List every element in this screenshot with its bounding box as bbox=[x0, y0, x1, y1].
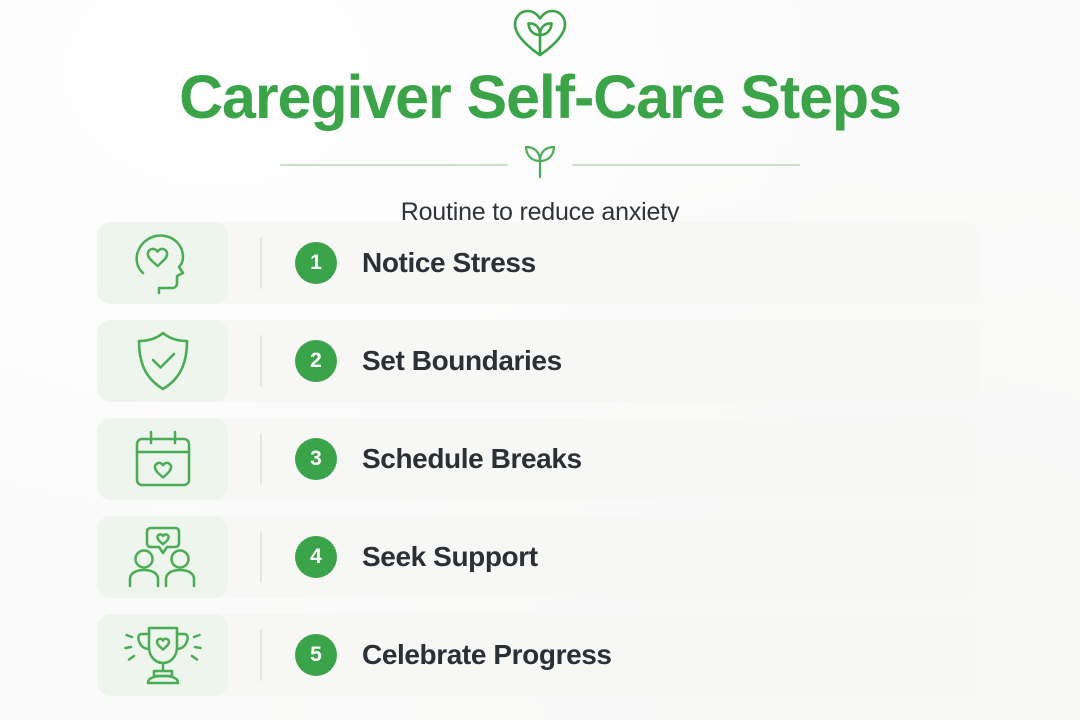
people-heart-chat-icon bbox=[127, 525, 199, 589]
step-icon-tile bbox=[97, 418, 228, 500]
trophy-heart-icon bbox=[124, 623, 202, 687]
step-icon-tile bbox=[97, 222, 228, 304]
heart-leaf-icon bbox=[507, 7, 573, 64]
title-divider bbox=[0, 145, 1080, 184]
step-number-badge: 1 bbox=[295, 242, 337, 284]
step-row[interactable]: 4 Seek Support bbox=[97, 516, 981, 598]
row-divider bbox=[260, 237, 262, 289]
row-divider bbox=[260, 531, 262, 583]
step-number-badge: 3 bbox=[295, 438, 337, 480]
step-label: Schedule Breaks bbox=[362, 443, 582, 475]
step-row[interactable]: 3 Schedule Breaks bbox=[97, 418, 981, 500]
infographic-canvas: Caregiver Self-Care Steps Routine to red… bbox=[0, 0, 1080, 720]
head-heart-icon bbox=[129, 231, 197, 295]
divider-line-right bbox=[572, 164, 800, 166]
step-label: Seek Support bbox=[362, 541, 538, 573]
row-divider bbox=[260, 335, 262, 387]
step-row[interactable]: 5 Celebrate Progress bbox=[97, 614, 981, 696]
header: Caregiver Self-Care Steps Routine to red… bbox=[0, 0, 1080, 227]
step-icon-tile bbox=[97, 516, 228, 598]
step-number-badge: 4 bbox=[295, 536, 337, 578]
step-label: Celebrate Progress bbox=[362, 639, 612, 671]
step-icon-tile bbox=[97, 614, 228, 696]
calendar-heart-icon bbox=[130, 428, 196, 490]
brand-mark bbox=[0, 10, 1080, 60]
step-label: Set Boundaries bbox=[362, 345, 562, 377]
step-row[interactable]: 1 Notice Stress bbox=[97, 222, 981, 304]
step-row[interactable]: 2 Set Boundaries bbox=[97, 320, 981, 402]
row-divider bbox=[260, 629, 262, 681]
page-title: Caregiver Self-Care Steps bbox=[0, 66, 1080, 129]
steps-list: 1 Notice Stress 2 Set Boundaries bbox=[97, 222, 981, 712]
step-label: Notice Stress bbox=[362, 247, 536, 279]
step-number-badge: 5 bbox=[295, 634, 337, 676]
step-number-badge: 2 bbox=[295, 340, 337, 382]
row-divider bbox=[260, 433, 262, 485]
sprout-leaf-icon bbox=[522, 145, 558, 184]
step-icon-tile bbox=[97, 320, 228, 402]
divider-line-left bbox=[280, 164, 508, 166]
shield-check-icon bbox=[133, 329, 193, 393]
